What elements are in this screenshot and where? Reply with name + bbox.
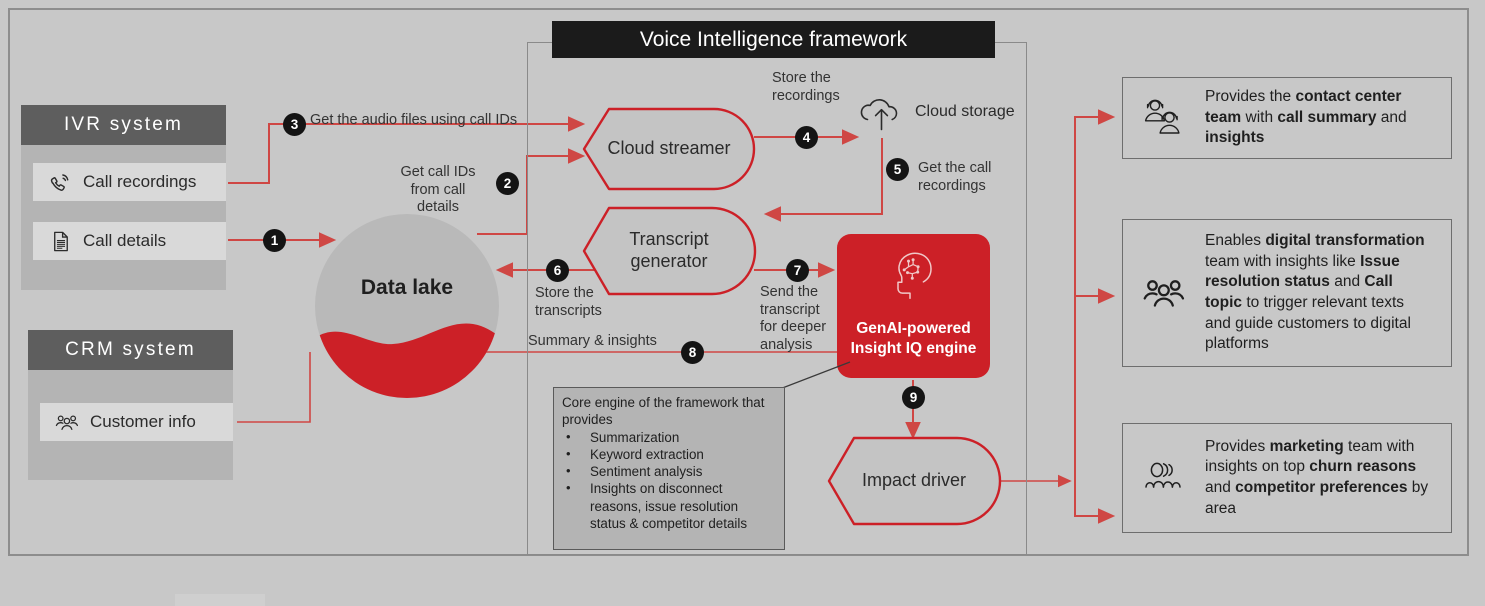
step-badge-9: 9 bbox=[902, 386, 925, 409]
step-badge-5: 5 bbox=[886, 158, 909, 181]
cloud-storage-label: Cloud storage bbox=[915, 103, 1015, 121]
source-row-call-recordings[interactable]: Call recordings bbox=[33, 163, 226, 201]
callout-intro: Core engine of the framework that provid… bbox=[562, 394, 776, 429]
node-data-lake[interactable]: Data lake bbox=[315, 214, 499, 398]
outcome-text: Provides marketing team with insights on… bbox=[1205, 437, 1433, 519]
phone-call-icon bbox=[47, 169, 73, 195]
node-impact-driver[interactable]: Impact driver bbox=[828, 437, 1000, 525]
bottom-mark bbox=[175, 594, 265, 606]
outcome-box-marketing: Provides marketing team with insights on… bbox=[1122, 423, 1452, 533]
source-title-crm: CRM system bbox=[28, 330, 233, 370]
step-badge-3: 3 bbox=[283, 113, 306, 136]
step-badge-2: 2 bbox=[496, 172, 519, 195]
node-label: Cloud streamer bbox=[583, 108, 755, 190]
node-label: GenAI-powered Insight IQ engine bbox=[851, 319, 977, 359]
document-icon bbox=[47, 228, 73, 254]
diagram-canvas: IVR system Call recordings Call details … bbox=[0, 0, 1485, 606]
callout-bullet: Sentiment analysis bbox=[562, 463, 776, 480]
step-label-4: Store the recordings bbox=[772, 70, 862, 105]
source-row-label: Call details bbox=[83, 231, 166, 251]
ai-head-icon bbox=[888, 248, 940, 309]
outcome-box-digital-transformation: Enables digital transformation team with… bbox=[1122, 219, 1452, 367]
source-row-call-details[interactable]: Call details bbox=[33, 222, 226, 260]
node-cloud-streamer[interactable]: Cloud streamer bbox=[583, 108, 755, 190]
callout-bullet: Summarization bbox=[562, 429, 776, 446]
callout-bullet: Insights on disconnect reasons, issue re… bbox=[562, 480, 776, 532]
step-label-5: Get the call recordings bbox=[918, 160, 1013, 195]
source-title-ivr: IVR system bbox=[21, 105, 226, 145]
step-badge-1: 1 bbox=[263, 229, 286, 252]
node-genai-insight-engine[interactable]: GenAI-powered Insight IQ engine bbox=[837, 234, 990, 378]
cloud-upload-icon bbox=[855, 95, 909, 135]
callout-bullet: Keyword extraction bbox=[562, 446, 776, 463]
step-label-2: Get call IDs from call details bbox=[382, 164, 494, 217]
outcome-text: Enables digital transformation team with… bbox=[1205, 231, 1433, 355]
node-label: Impact driver bbox=[828, 437, 1000, 525]
step-badge-4: 4 bbox=[795, 126, 818, 149]
step-label-7: Send the transcript for deeper analysis bbox=[760, 284, 836, 355]
outcome-text: Provides the contact center team with ca… bbox=[1205, 87, 1433, 149]
callout-bullet-list: Summarization Keyword extraction Sentime… bbox=[562, 429, 776, 533]
step-badge-7: 7 bbox=[786, 259, 809, 282]
source-row-label: Call recordings bbox=[83, 172, 196, 192]
framework-title: Voice Intelligence framework bbox=[552, 21, 995, 58]
source-row-label: Customer info bbox=[90, 412, 196, 432]
node-transcript-generator[interactable]: Transcript generator bbox=[583, 207, 755, 295]
people-group-icon bbox=[54, 409, 80, 435]
people-group-icon bbox=[1137, 270, 1191, 316]
core-engine-callout: Core engine of the framework that provid… bbox=[553, 387, 785, 550]
contact-center-agents-icon bbox=[1137, 95, 1191, 141]
source-row-customer-info[interactable]: Customer info bbox=[40, 403, 233, 441]
node-label: Data lake bbox=[315, 276, 499, 300]
node-label: Transcript generator bbox=[583, 207, 755, 295]
crowd-icon bbox=[1137, 455, 1191, 501]
outcome-box-contact-center: Provides the contact center team with ca… bbox=[1122, 77, 1452, 159]
step-label-3: Get the audio files using call IDs bbox=[310, 112, 570, 130]
step-badge-6: 6 bbox=[546, 259, 569, 282]
step-badge-8: 8 bbox=[681, 341, 704, 364]
